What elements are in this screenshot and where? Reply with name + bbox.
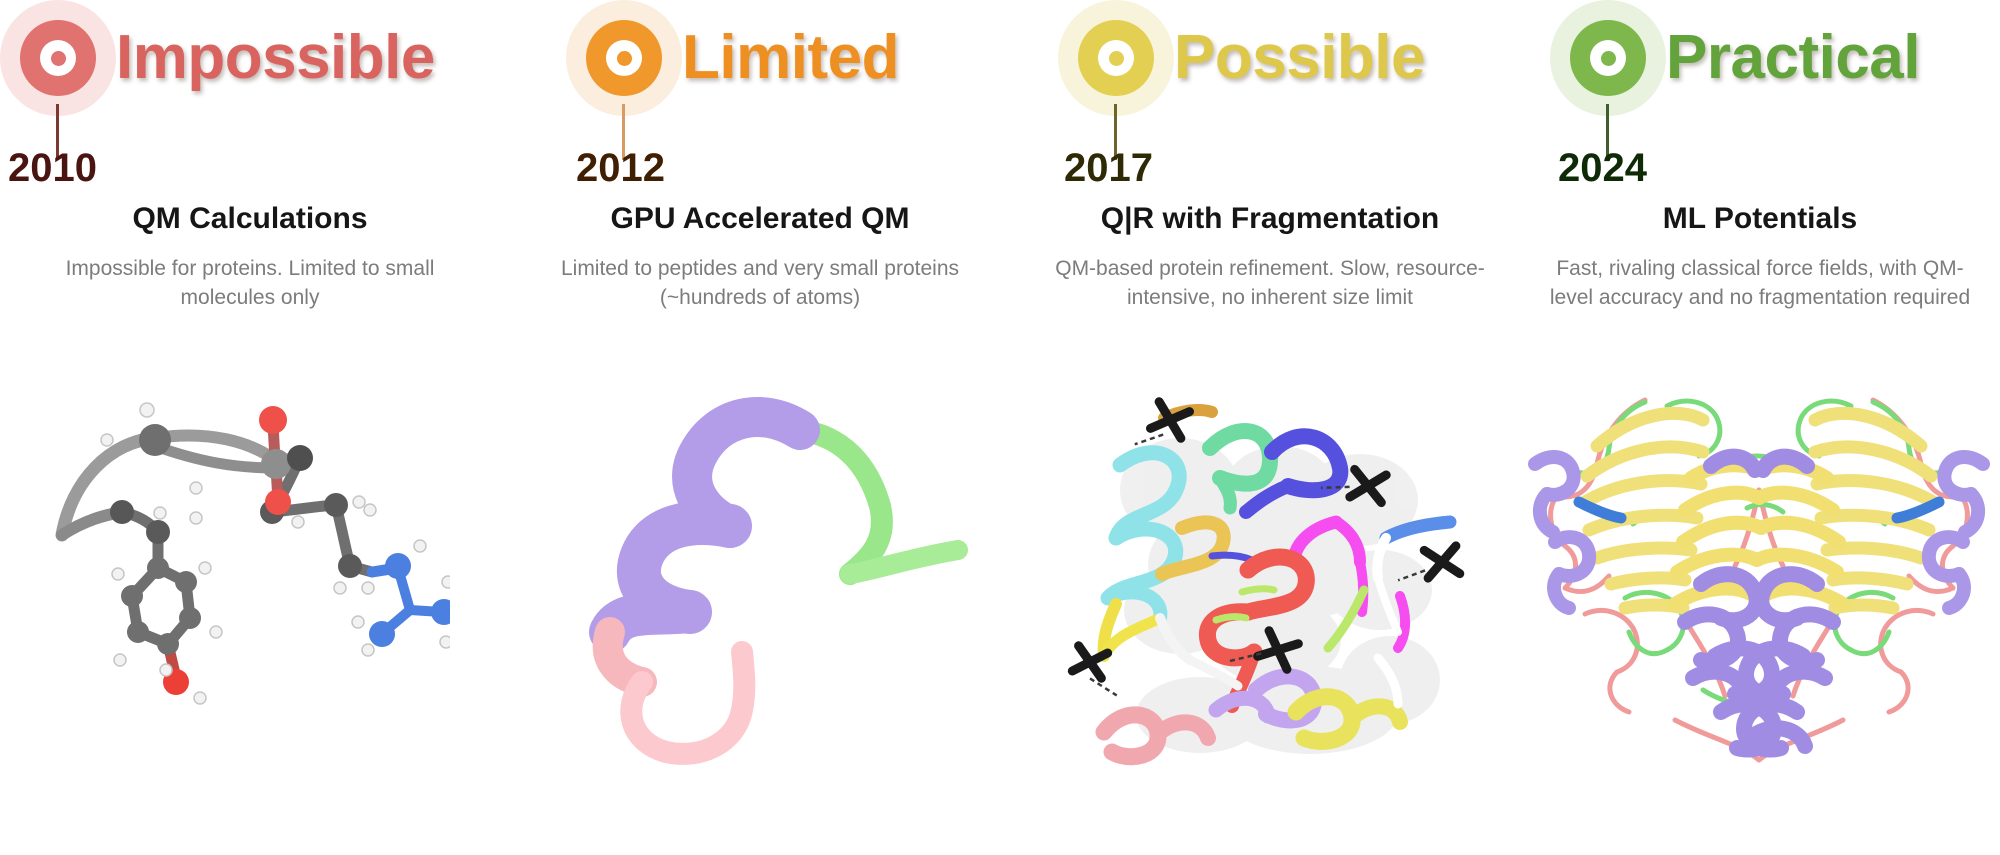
- item-title: GPU Accelerated QM: [522, 200, 998, 238]
- target-icon-wrap: [1058, 0, 1178, 120]
- item-description: Limited to peptides and very small prote…: [522, 254, 998, 314]
- target-icon: [0, 0, 116, 116]
- target-icon-wrap: [566, 0, 686, 120]
- column-header: Practical: [1520, 0, 2000, 140]
- target-icon-wrap: [1550, 0, 1670, 120]
- column-text-block: QM Calculations Impossible for proteins.…: [0, 200, 500, 313]
- column-text-block: ML Potentials Fast, rivaling classical f…: [1520, 200, 2000, 313]
- item-title: Q|R with Fragmentation: [1042, 200, 1498, 238]
- column-header: Possible: [1020, 0, 1520, 140]
- target-icon: [1550, 0, 1666, 116]
- item-description: QM-based protein refinement. Slow, resou…: [1042, 254, 1498, 314]
- year-label: 2010: [8, 148, 97, 188]
- year-label: 2017: [1064, 148, 1153, 188]
- peptide-ribbon-helix-icon: [550, 360, 970, 780]
- figure-small-molecule: [0, 360, 500, 855]
- timeline-column-impossible: Impossible 2010 QM Calculations Impossib…: [0, 0, 500, 855]
- timeline-column-practical: Practical 2024 ML Potentials Fast, rival…: [1520, 0, 2000, 855]
- figure-peptide-ribbon: [500, 360, 1020, 855]
- phase-label: Possible: [1174, 0, 1425, 116]
- column-text-block: GPU Accelerated QM Limited to peptides a…: [500, 200, 1020, 313]
- item-description: Fast, rivaling classical force fields, w…: [1542, 254, 1978, 314]
- timeline-container: Impossible 2010 QM Calculations Impossib…: [0, 0, 2000, 855]
- timeline-column-limited: Limited 2012 GPU Accelerated QM Limited …: [500, 0, 1020, 855]
- target-icon: [1058, 0, 1174, 116]
- fragmented-protein-with-cut-markers-icon: [1060, 360, 1480, 780]
- phase-label: Practical: [1666, 0, 1920, 116]
- target-icon-wrap: [0, 0, 120, 120]
- item-title: ML Potentials: [1542, 200, 1978, 238]
- large-protein-complex-cartoon-icon: [1525, 360, 1995, 780]
- phase-label: Impossible: [116, 0, 435, 116]
- small-molecule-ball-and-stick-icon: [50, 360, 450, 780]
- column-header: Impossible: [0, 0, 500, 140]
- figure-protein-complex: [1520, 360, 2000, 855]
- target-icon: [566, 0, 682, 116]
- timeline-column-possible: Possible 2017 Q|R with Fragmentation QM-…: [1020, 0, 1520, 855]
- column-text-block: Q|R with Fragmentation QM-based protein …: [1020, 200, 1520, 313]
- phase-label: Limited: [682, 0, 899, 116]
- item-title: QM Calculations: [22, 200, 478, 238]
- year-label: 2012: [576, 148, 665, 188]
- item-description: Impossible for proteins. Limited to smal…: [22, 254, 478, 314]
- figure-fragmented-protein: [1020, 360, 1520, 855]
- column-header: Limited: [500, 0, 1020, 140]
- year-label: 2024: [1558, 148, 1647, 188]
